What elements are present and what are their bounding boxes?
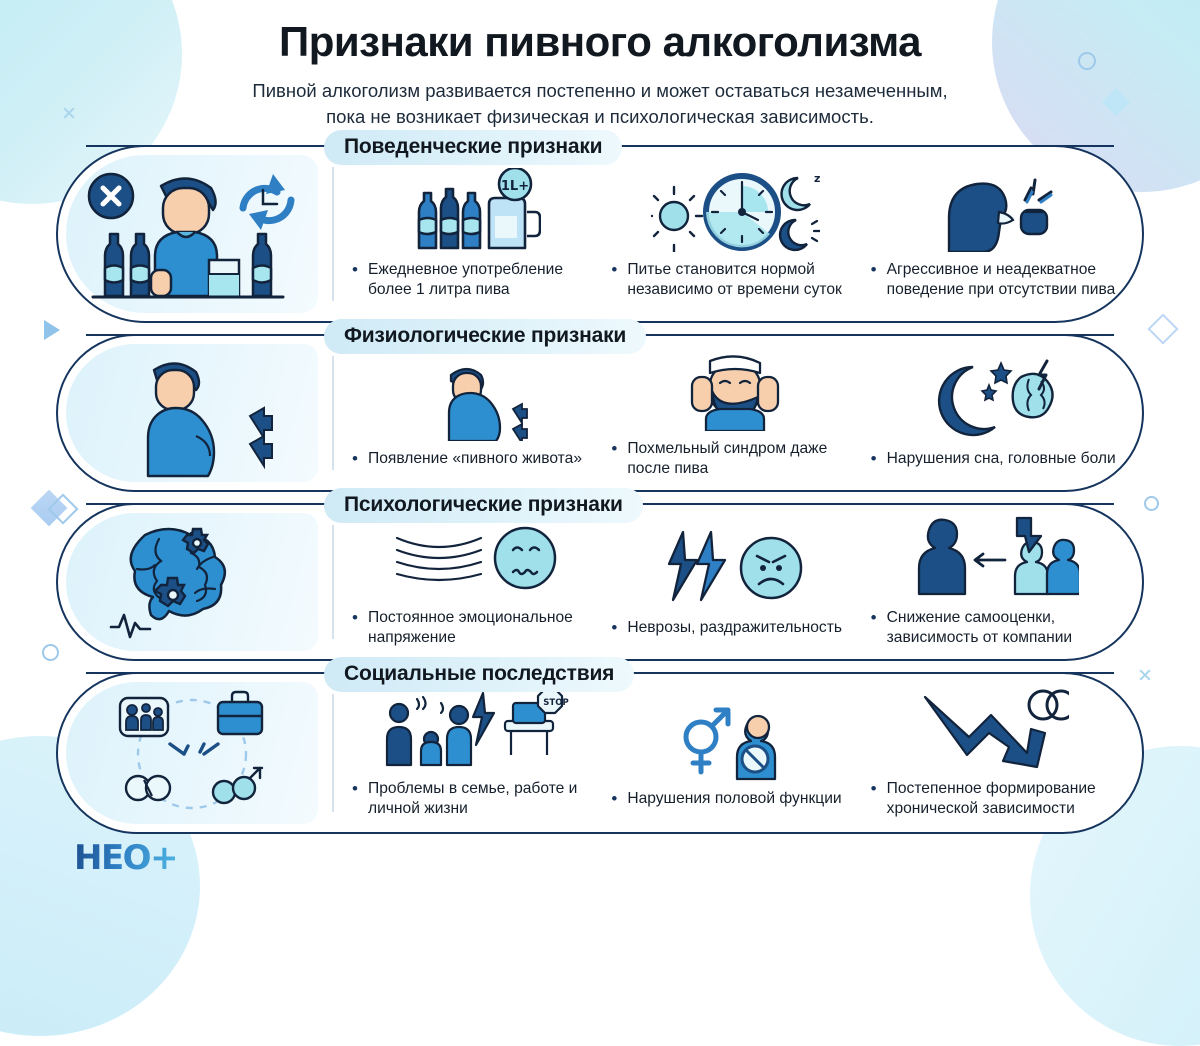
section-title-social: Социальные последствия bbox=[324, 657, 634, 692]
broken-chain-family-work-icon bbox=[92, 688, 292, 818]
title-rule-left bbox=[86, 145, 324, 147]
sun-clock-moon-icon: z bbox=[650, 168, 820, 252]
list-item: Агрессивное и неадекватное поведение при… bbox=[865, 168, 1124, 300]
item-art bbox=[421, 357, 531, 441]
section-behavioral: Поведенческие признаки bbox=[56, 145, 1144, 323]
item-art: 1L+ bbox=[411, 168, 541, 252]
list-item-label: Снижение самооценки, зависимость от комп… bbox=[871, 608, 1118, 648]
hero-divider bbox=[332, 525, 334, 639]
title-rule-right bbox=[650, 334, 1114, 336]
title-rule-right bbox=[648, 503, 1114, 505]
item-art bbox=[909, 516, 1079, 600]
page-header: Признаки пивного алкоголизма Пивной алко… bbox=[0, 0, 1200, 131]
items-physiological: Появление «пивного живота» bbox=[344, 336, 1142, 490]
item-art bbox=[919, 687, 1069, 771]
section-title-psychological: Психологические признаки bbox=[324, 488, 643, 523]
list-item: Нарушения сна, головные боли bbox=[865, 357, 1124, 469]
beer-bottles-and-mug-1l-icon: 1L+ bbox=[411, 168, 541, 252]
list-item-label: Питье становится нормой независимо от вр… bbox=[611, 260, 858, 300]
list-item: STOP Проблемы в семье, работе и личной ж… bbox=[346, 687, 605, 819]
page-subtitle: Пивной алкоголизм развивается постепенно… bbox=[0, 78, 1200, 131]
list-item: Неврозы, раздражительность bbox=[605, 526, 864, 638]
gender-symbol-blocked-icon bbox=[675, 697, 795, 781]
hero-illustration-social bbox=[66, 682, 318, 824]
title-rule-right bbox=[630, 672, 1114, 674]
list-item: Появление «пивного живота» bbox=[346, 357, 605, 469]
stop-label: STOP bbox=[543, 698, 568, 708]
section-title-physiological: Физиологические признаки bbox=[324, 319, 646, 354]
list-item-label: Агрессивное и неадекватное поведение при… bbox=[871, 260, 1118, 300]
man-with-belly-icon bbox=[92, 348, 292, 478]
sections-list: Поведенческие признаки bbox=[0, 145, 1200, 834]
title-rule-left bbox=[86, 334, 324, 336]
section-psychological: Психологические признаки bbox=[56, 503, 1144, 661]
section-card-social: STOP Проблемы в семье, работе и личной ж… bbox=[56, 672, 1144, 834]
list-item-label: Постоянное эмоциональное напряжение bbox=[352, 608, 599, 648]
hangover-headache-icon bbox=[680, 347, 790, 431]
section-social: Социальные последствия bbox=[56, 672, 1144, 834]
page-subtitle-line-2: пока не возникает физическая и психологи… bbox=[0, 104, 1200, 130]
items-behavioral: 1L+ Ежедневное употребление более 1 литр… bbox=[344, 147, 1142, 321]
items-social: STOP Проблемы в семье, работе и личной ж… bbox=[344, 674, 1142, 832]
list-item: Похмельный синдром даже после пива bbox=[605, 347, 864, 479]
list-item: 1L+ Ежедневное употребление более 1 литр… bbox=[346, 168, 605, 300]
list-item-label: Появление «пивного живота» bbox=[352, 449, 582, 469]
list-item-label: Неврозы, раздражительность bbox=[611, 618, 842, 638]
item-art bbox=[391, 516, 561, 600]
beer-belly-profile-icon bbox=[421, 357, 531, 441]
downward-arrow-rings-icon bbox=[919, 687, 1069, 771]
title-rule-left bbox=[86, 672, 324, 674]
list-item-label: Ежедневное употребление более 1 литра пи… bbox=[352, 260, 599, 300]
list-item-label: Проблемы в семье, работе и личной жизни bbox=[352, 779, 599, 819]
moon-stars-brain-icon bbox=[929, 357, 1059, 441]
item-art bbox=[929, 357, 1059, 441]
family-conflict-work-stop-icon: STOP bbox=[381, 687, 571, 771]
item-art bbox=[680, 347, 790, 431]
section-card-behavioral: 1L+ Ежедневное употребление более 1 литр… bbox=[56, 145, 1144, 323]
lightning-angry-face-icon bbox=[665, 526, 805, 610]
list-item: Снижение самооценки, зависимость от комп… bbox=[865, 516, 1124, 648]
item-art: STOP bbox=[381, 687, 571, 771]
title-rule-right bbox=[616, 145, 1114, 147]
hero-divider bbox=[332, 167, 334, 301]
list-item: z Питье становится нормой независимо от … bbox=[605, 168, 864, 300]
page-title: Признаки пивного алкоголизма bbox=[0, 18, 1200, 66]
item-art bbox=[929, 168, 1059, 252]
brain-with-gears-icon bbox=[97, 517, 287, 647]
section-title-behavioral: Поведенческие признаки bbox=[324, 130, 622, 165]
list-item-label: Похмельный синдром даже после пива bbox=[611, 439, 858, 479]
zzz-label: z bbox=[814, 172, 820, 185]
list-item: Нарушения половой функции bbox=[605, 697, 864, 809]
badge-1l-plus: 1L+ bbox=[501, 179, 529, 194]
list-item-label: Нарушения сна, головные боли bbox=[871, 449, 1116, 469]
man-with-beer-bottles-icon bbox=[77, 164, 307, 304]
item-art: z bbox=[650, 168, 820, 252]
list-item-label: Постепенное формирование хронической зав… bbox=[871, 779, 1118, 819]
tension-worried-face-icon bbox=[391, 516, 561, 600]
thumbs-down-group-icon bbox=[909, 516, 1079, 600]
section-card-physiological: Появление «пивного живота» bbox=[56, 334, 1144, 492]
title-rule-left bbox=[86, 503, 324, 505]
hero-illustration-physiological bbox=[66, 344, 318, 482]
list-item-label: Нарушения половой функции bbox=[611, 789, 841, 809]
shouting-man-fist-icon bbox=[929, 168, 1059, 252]
section-card-psychological: Постоянное эмоциональное напряжение bbox=[56, 503, 1144, 661]
brand-logo: НЕО+ bbox=[74, 838, 177, 878]
hero-illustration-behavioral bbox=[66, 155, 318, 313]
item-art bbox=[675, 697, 795, 781]
items-psychological: Постоянное эмоциональное напряжение bbox=[344, 505, 1142, 659]
section-physiological: Физиологические признаки bbox=[56, 334, 1144, 492]
page-subtitle-line-1: Пивной алкоголизм развивается постепенно… bbox=[0, 78, 1200, 104]
hero-divider bbox=[332, 694, 334, 812]
list-item: Постоянное эмоциональное напряжение bbox=[346, 516, 605, 648]
list-item: Постепенное формирование хронической зав… bbox=[865, 687, 1124, 819]
hero-illustration-psychological bbox=[66, 513, 318, 651]
item-art bbox=[665, 526, 805, 610]
hero-divider bbox=[332, 356, 334, 470]
